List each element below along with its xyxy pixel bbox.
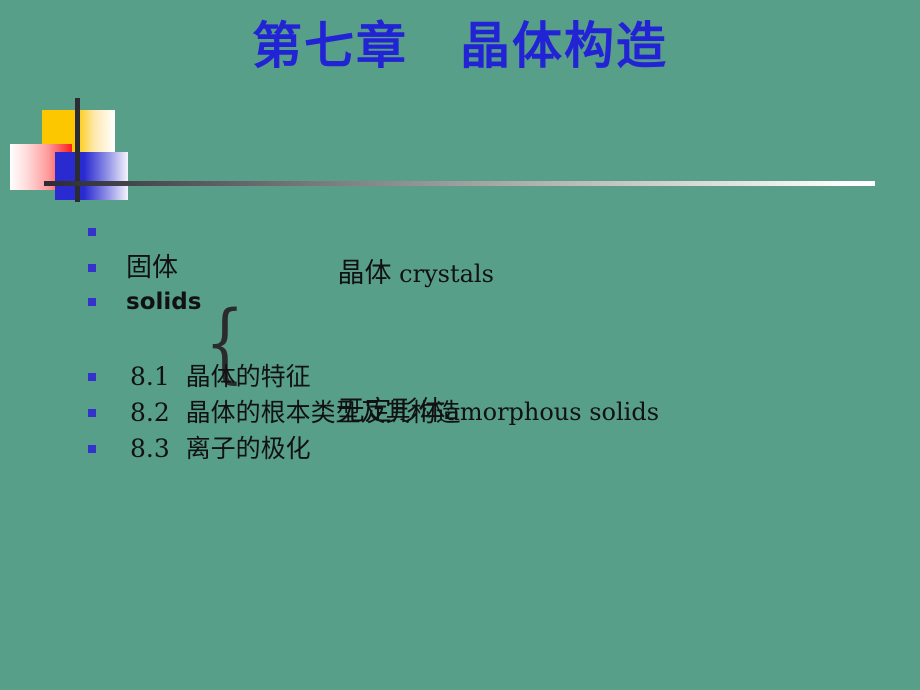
- bullet-square-icon: [88, 409, 96, 417]
- bullet-square-icon: [88, 445, 96, 453]
- brace-item: 晶体 crystals: [252, 205, 659, 343]
- slide-canvas: 第七章 晶体构造 固体 solids { 晶体 crystals: [0, 0, 920, 690]
- brace-item-en: crystals: [392, 260, 494, 288]
- brace-item-cn: 晶体: [338, 258, 392, 289]
- section-label: 8.3 离子的极化: [130, 435, 311, 463]
- list-item: [88, 217, 126, 247]
- list-item-label: 固体: [126, 254, 178, 282]
- bullet-square-icon: [88, 264, 96, 272]
- list-item-section-8-3: 8.3 离子的极化: [88, 431, 311, 467]
- list-item-section-8-1: 8.1 晶体的特征: [88, 359, 311, 395]
- page-title: 第七章 晶体构造: [0, 14, 920, 78]
- horizontal-rule: [44, 181, 875, 186]
- section-label: 8.1 晶体的特征: [130, 363, 311, 391]
- list-item: solids: [88, 287, 201, 317]
- list-item: 固体: [88, 253, 178, 283]
- section-label: 8.2 晶体的根本类型及其构造: [130, 399, 461, 427]
- list-item-label: solids: [126, 289, 201, 315]
- bullet-square-icon: [88, 373, 96, 381]
- bullet-square-icon: [88, 228, 96, 236]
- brace-item-en: amorphous solids: [446, 398, 659, 426]
- vertical-rule: [75, 98, 80, 202]
- bullet-square-icon: [88, 298, 96, 306]
- decorative-graphic: [0, 90, 900, 210]
- brace-items: 晶体 crystals 无定形体amorphous solids: [252, 205, 659, 481]
- blue-square-icon: [55, 152, 128, 200]
- list-item-section-8-2: 8.2 晶体的根本类型及其构造: [88, 395, 461, 431]
